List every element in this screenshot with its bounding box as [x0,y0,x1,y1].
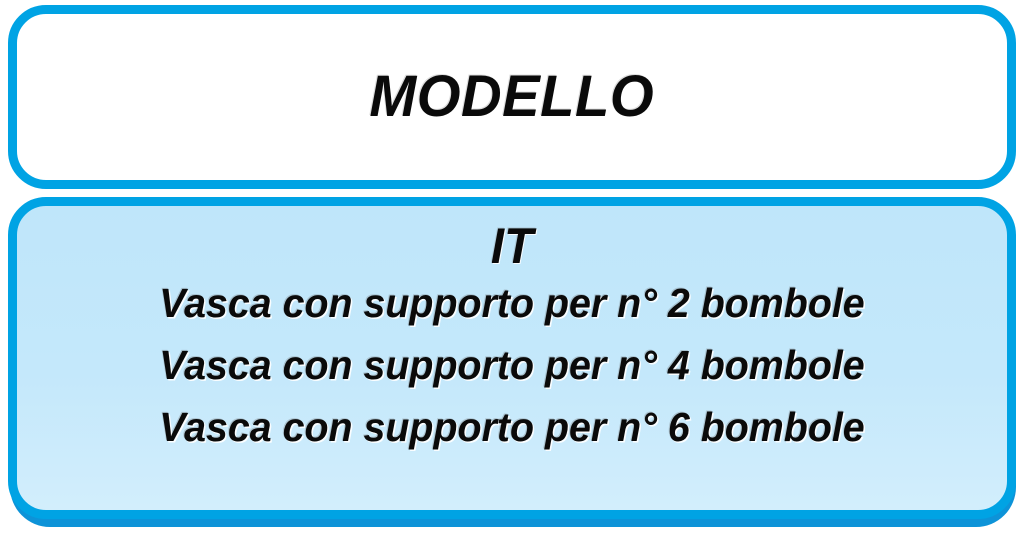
table-card: MODELLO IT Vasca con supporto per n° 2 b… [0,0,1024,533]
body-panel: IT Vasca con supporto per n° 2 bombole V… [8,197,1016,519]
language-label: IT [42,220,983,273]
list-item: Vasca con supporto per n° 4 bombole [37,345,987,386]
page-title: MODELLO [370,68,655,126]
header-panel: MODELLO [8,5,1016,189]
list-item: Vasca con supporto per n° 2 bombole [37,283,987,324]
description-list: Vasca con supporto per n° 2 bombole Vasc… [17,283,1007,448]
list-item: Vasca con supporto per n° 6 bombole [37,407,987,448]
